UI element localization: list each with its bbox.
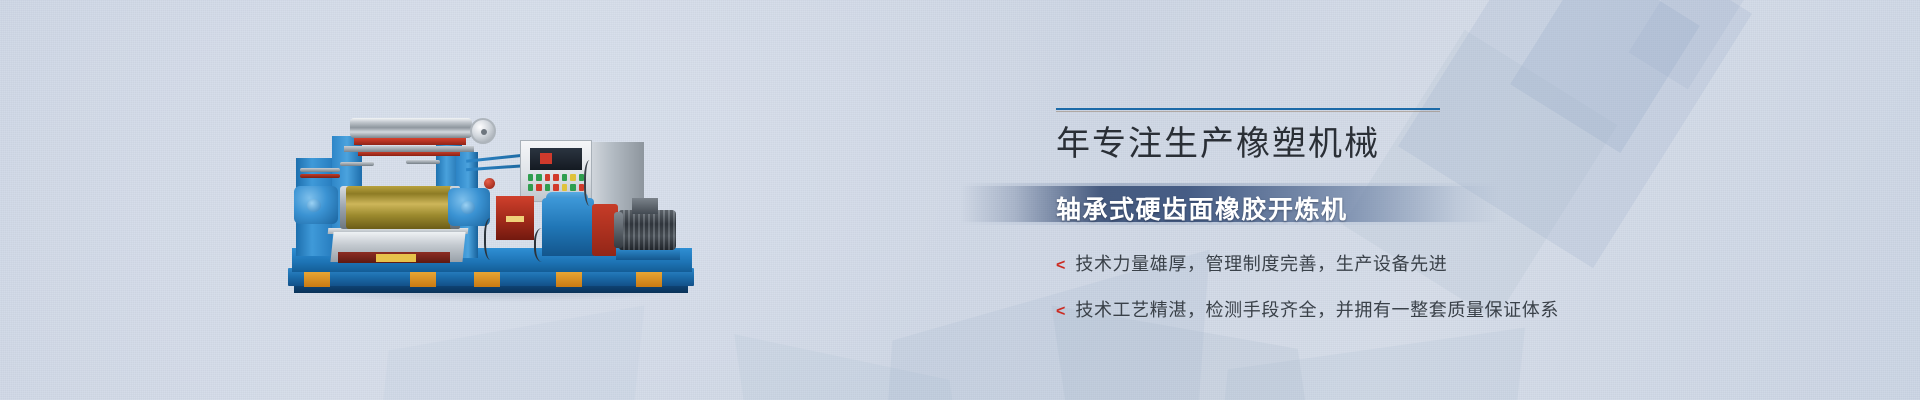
banner-text-block: 年专注生产橡塑机械 轴承式硬齿面橡胶开炼机 < 技术力量雄厚，管理制度完善，生产… bbox=[1056, 108, 1616, 165]
promo-banner: 年专注生产橡塑机械 轴承式硬齿面橡胶开炼机 < 技术力量雄厚，管理制度完善，生产… bbox=[0, 0, 1920, 400]
machine-emergency-stop-button bbox=[484, 178, 495, 189]
machine-center-gearbox bbox=[448, 188, 490, 226]
chevron-left-icon: < bbox=[1056, 304, 1065, 320]
machine-indicator-button bbox=[536, 184, 541, 191]
machine-foot bbox=[410, 272, 436, 287]
chevron-left-icon: < bbox=[1056, 258, 1065, 274]
machine-top-roll-red-band bbox=[354, 138, 466, 145]
machine-indicator-button bbox=[553, 174, 558, 181]
machine-motor-fins bbox=[618, 210, 676, 250]
headline-rule-primary bbox=[1056, 108, 1440, 110]
machine-top-crossbar-red bbox=[358, 152, 460, 156]
machine-indicator-button bbox=[553, 184, 558, 191]
machine-motor-end-cap bbox=[614, 212, 623, 248]
machine-handle bbox=[406, 160, 440, 164]
machine-indicator-button bbox=[545, 174, 550, 181]
machine-hose bbox=[584, 160, 598, 206]
bullet-item: < 技术工艺精湛，检测手段齐全，并拥有一整套质量保证体系 bbox=[1056, 296, 1559, 322]
machine-foot bbox=[556, 272, 582, 287]
machine-indicator-button bbox=[528, 184, 533, 191]
machine-foot bbox=[474, 272, 500, 287]
machine-motor-terminal-box bbox=[632, 198, 658, 214]
machine-indicator-button bbox=[528, 174, 533, 181]
machine-indicator-button bbox=[562, 184, 567, 191]
machine-top-chrome-roll bbox=[350, 118, 472, 138]
banner-bullet-list: < 技术力量雄厚，管理制度完善，生产设备先进 < 技术工艺精湛，检测手段齐全，并… bbox=[1056, 250, 1559, 342]
machine-indicator-button bbox=[545, 184, 550, 191]
product-photo bbox=[288, 100, 694, 305]
machine-handle bbox=[340, 162, 374, 166]
machine-left-gearbox bbox=[294, 186, 338, 224]
machine-handle-red bbox=[300, 174, 340, 178]
machine-button-row-2 bbox=[528, 184, 584, 192]
machine-red-block-label bbox=[506, 216, 524, 222]
headline-rule-secondary bbox=[1056, 111, 1440, 112]
machine-indicator-button bbox=[562, 174, 567, 181]
machine-control-screen bbox=[530, 148, 582, 170]
machine-indicator-button bbox=[570, 174, 575, 181]
machine-handwheel bbox=[470, 118, 496, 144]
bullet-item: < 技术力量雄厚，管理制度完善，生产设备先进 bbox=[1056, 250, 1559, 276]
bullet-text: 技术工艺精湛，检测手段齐全，并拥有一整套质量保证体系 bbox=[1075, 296, 1559, 322]
machine-hose bbox=[484, 218, 500, 260]
machine-foot bbox=[304, 272, 330, 287]
machine-hose bbox=[534, 228, 554, 262]
banner-subtitle: 轴承式硬齿面橡胶开炼机 bbox=[1056, 190, 1348, 226]
machine-handle bbox=[300, 168, 340, 172]
machine-foot bbox=[636, 272, 662, 287]
decorative-shape-9 bbox=[375, 305, 644, 400]
machine-nameplate bbox=[376, 254, 416, 262]
machine-button-row-1 bbox=[528, 174, 584, 182]
machine-indicator-button bbox=[570, 184, 575, 191]
bullet-text: 技术力量雄厚，管理制度完善，生产设备先进 bbox=[1075, 250, 1447, 276]
machine-brass-roll bbox=[346, 186, 456, 229]
decorative-shape-4 bbox=[1629, 0, 1752, 89]
banner-headline: 年专注生产橡塑机械 bbox=[1056, 125, 1616, 165]
decorative-shape-8 bbox=[734, 334, 965, 400]
machine-base-shadow bbox=[294, 286, 688, 293]
machine-indicator-button bbox=[536, 174, 541, 181]
